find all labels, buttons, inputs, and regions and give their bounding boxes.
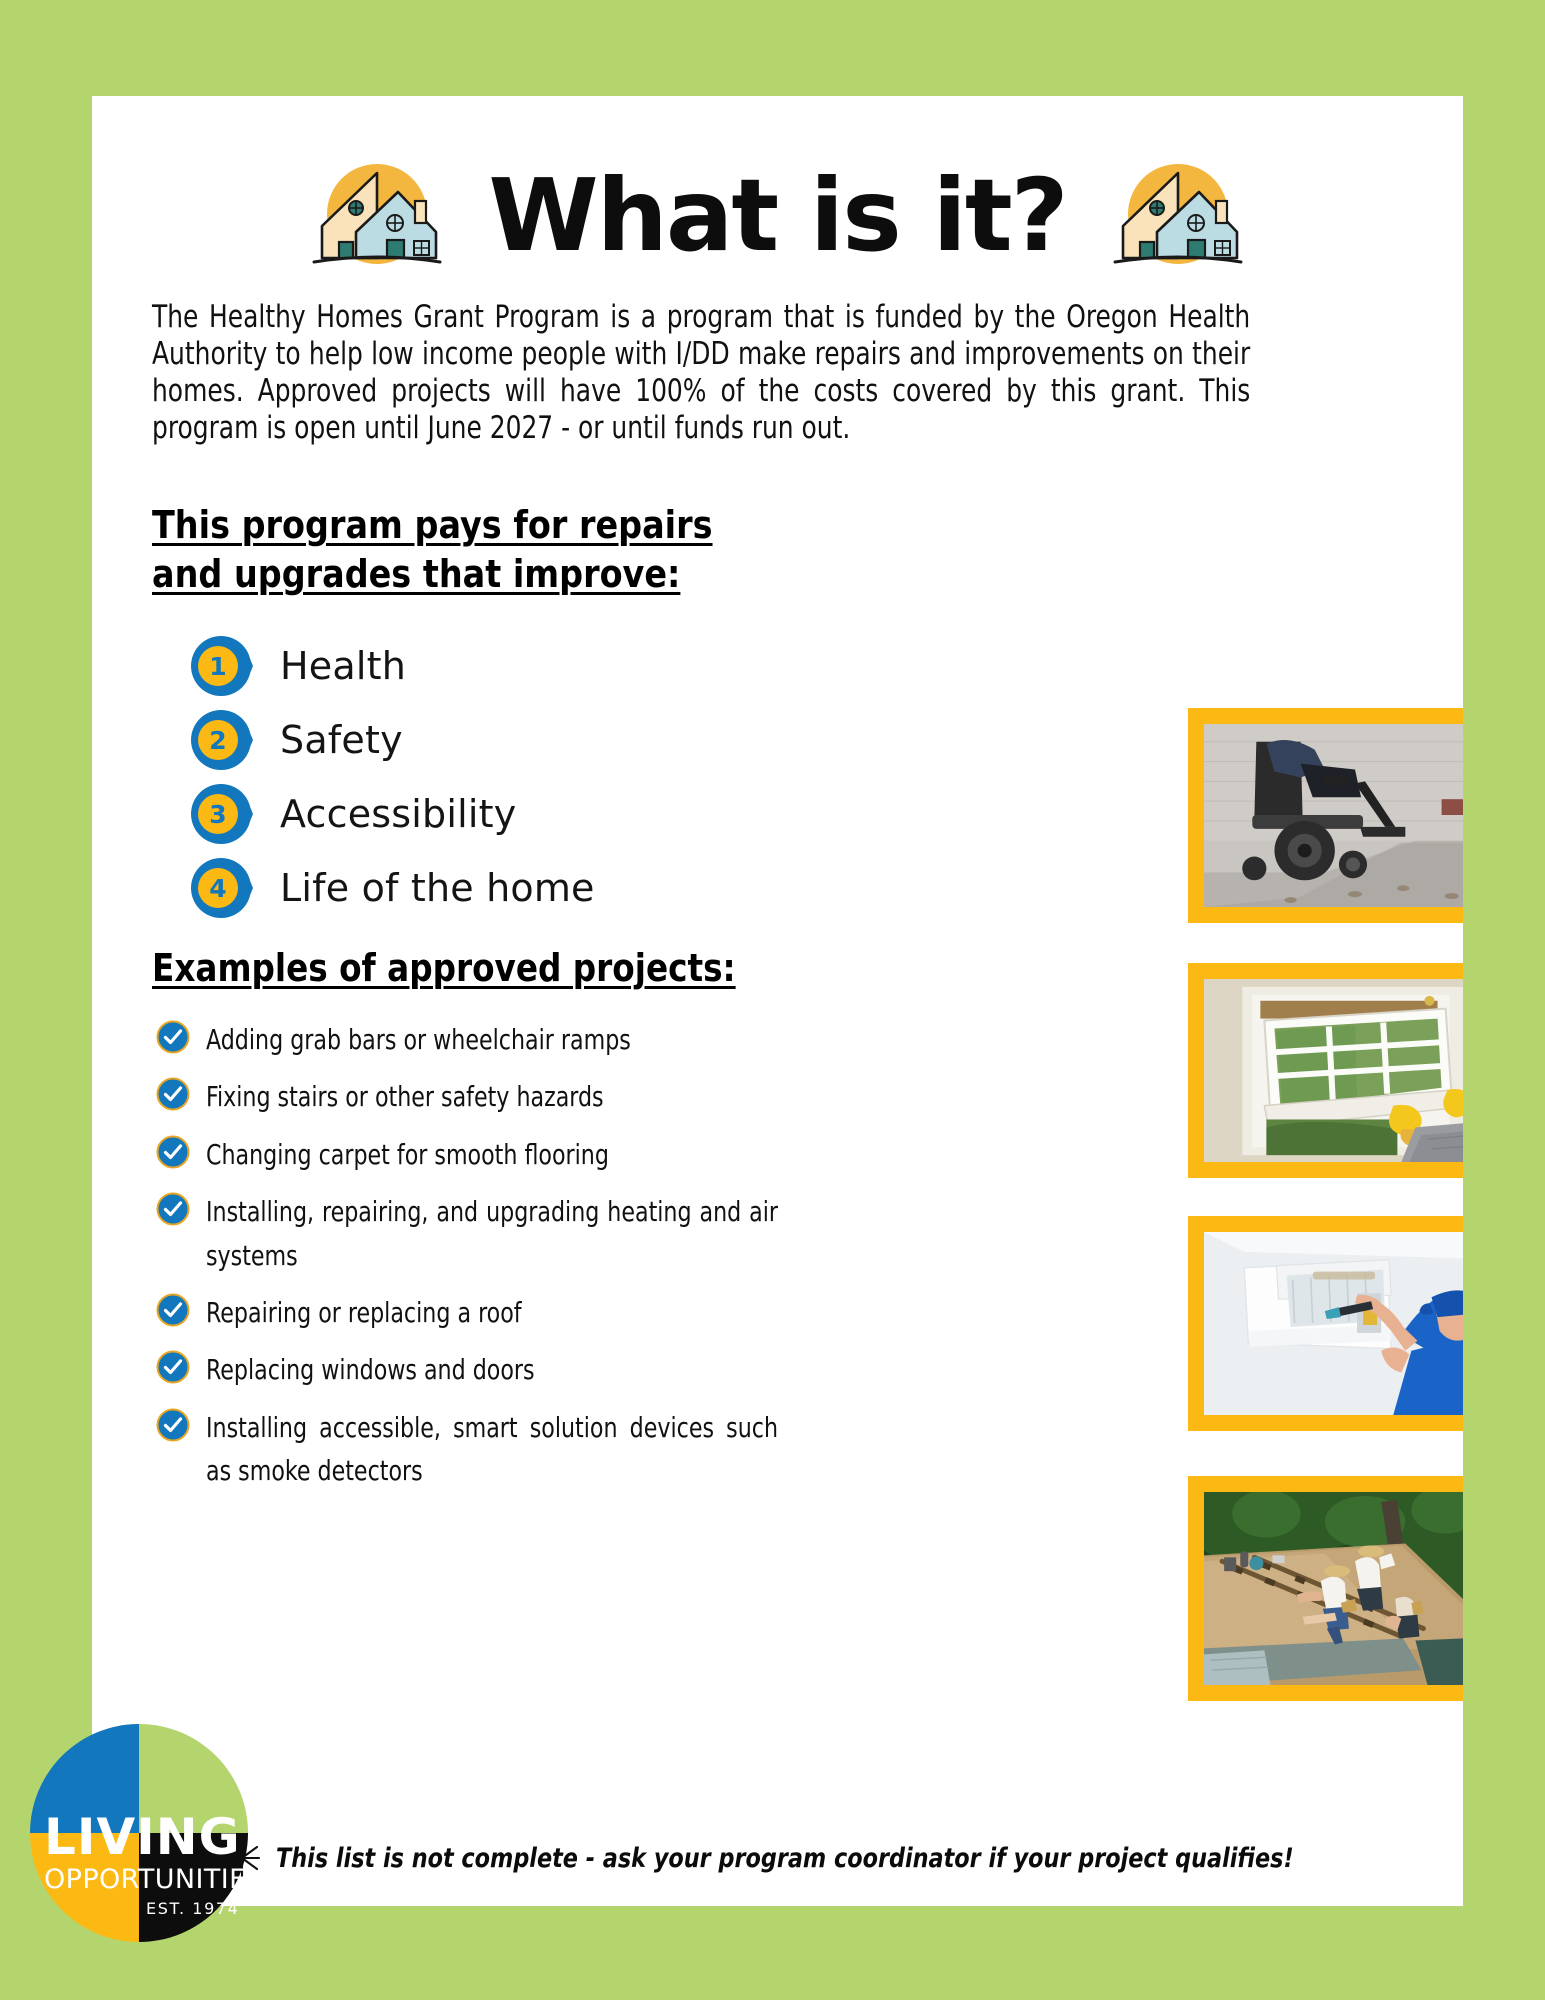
list-item: 1 Health bbox=[188, 629, 888, 703]
list-item-label: Installing, repairing, and upgrading hea… bbox=[206, 1190, 778, 1277]
list-item: Replacing windows and doors bbox=[156, 1348, 856, 1391]
photo-frame bbox=[1188, 708, 1463, 923]
logo-established: EST. 1974 bbox=[146, 1899, 239, 1918]
badge-number: 4 bbox=[209, 874, 226, 903]
house-icon bbox=[1111, 156, 1245, 276]
list-item: Adding grab bars or wheelchair ramps bbox=[156, 1018, 856, 1061]
list-item: 2 Safety bbox=[188, 703, 888, 777]
logo-name-line2: OPPORTUNITIES bbox=[44, 1864, 250, 1895]
list-item: Installing, repairing, and upgrading hea… bbox=[156, 1190, 856, 1277]
check-circle-icon bbox=[156, 1192, 190, 1226]
list-item: Changing carpet for smooth flooring bbox=[156, 1133, 856, 1176]
list-item-label: Life of the home bbox=[280, 866, 595, 910]
list-item: 3 Accessibility bbox=[188, 777, 888, 851]
list-item-label: Health bbox=[280, 644, 406, 688]
improve-heading-line2: and upgrades that improve: bbox=[152, 552, 680, 596]
roof-repair-photo bbox=[1204, 1492, 1463, 1685]
footnote-text: This list is not complete - ask your pro… bbox=[276, 1843, 1294, 1874]
check-circle-icon bbox=[156, 1408, 190, 1442]
list-item: Installing accessible, smart solution de… bbox=[156, 1406, 856, 1493]
photo-frame bbox=[1188, 1216, 1463, 1431]
list-item-label: Changing carpet for smooth flooring bbox=[206, 1133, 778, 1176]
improve-list: 1 Health 2 Safety bbox=[188, 629, 888, 925]
poster-page: What is it? bbox=[0, 0, 1545, 2000]
number-badge-icon: 1 bbox=[188, 635, 254, 697]
number-badge-icon: 2 bbox=[188, 709, 254, 771]
house-icon bbox=[310, 156, 444, 276]
list-item-label: Accessibility bbox=[280, 792, 516, 836]
examples-list: Adding grab bars or wheelchair ramps Fix… bbox=[156, 1018, 856, 1507]
header: What is it? bbox=[92, 146, 1463, 286]
examples-heading: Examples of approved projects: bbox=[152, 946, 806, 992]
badge-number: 1 bbox=[209, 652, 226, 681]
improve-heading: This program pays for repairs and upgrad… bbox=[152, 501, 768, 598]
improve-heading-line1: This program pays for repairs bbox=[152, 503, 713, 547]
badge-number: 3 bbox=[209, 800, 226, 829]
photo-frame bbox=[1188, 963, 1463, 1178]
list-item-label: Replacing windows and doors bbox=[206, 1348, 778, 1391]
window-replacement-photo bbox=[1204, 979, 1463, 1162]
page-title: What is it? bbox=[488, 166, 1066, 266]
check-circle-icon bbox=[156, 1077, 190, 1111]
list-item-label: Safety bbox=[280, 718, 403, 762]
intro-paragraph: The Healthy Homes Grant Program is a pro… bbox=[152, 299, 1250, 448]
number-badge-icon: 4 bbox=[188, 857, 254, 919]
living-opportunities-logo: LIVING OPPORTUNITIES EST. 1974 bbox=[28, 1722, 250, 1944]
list-item-label: Fixing stairs or other safety hazards bbox=[206, 1075, 778, 1118]
check-circle-icon bbox=[156, 1020, 190, 1054]
list-item: Fixing stairs or other safety hazards bbox=[156, 1075, 856, 1118]
number-badge-icon: 3 bbox=[188, 783, 254, 845]
list-item: Repairing or replacing a roof bbox=[156, 1291, 856, 1334]
footnote: This list is not complete - ask your pro… bbox=[222, 1836, 1382, 1880]
wheelchair-ramp-photo bbox=[1204, 724, 1463, 907]
poster-card: What is it? bbox=[92, 96, 1463, 1906]
list-item-label: Repairing or replacing a roof bbox=[206, 1291, 778, 1334]
check-circle-icon bbox=[156, 1135, 190, 1169]
check-circle-icon bbox=[156, 1350, 190, 1384]
badge-number: 2 bbox=[209, 726, 226, 755]
list-item: 4 Life of the home bbox=[188, 851, 888, 925]
check-circle-icon bbox=[156, 1293, 190, 1327]
photo-frame bbox=[1188, 1476, 1463, 1701]
hvac-install-photo bbox=[1204, 1232, 1463, 1415]
list-item-label: Adding grab bars or wheelchair ramps bbox=[206, 1018, 778, 1061]
list-item-label: Installing accessible, smart solution de… bbox=[206, 1406, 778, 1493]
logo-name-line1: LIVING bbox=[44, 1808, 241, 1866]
